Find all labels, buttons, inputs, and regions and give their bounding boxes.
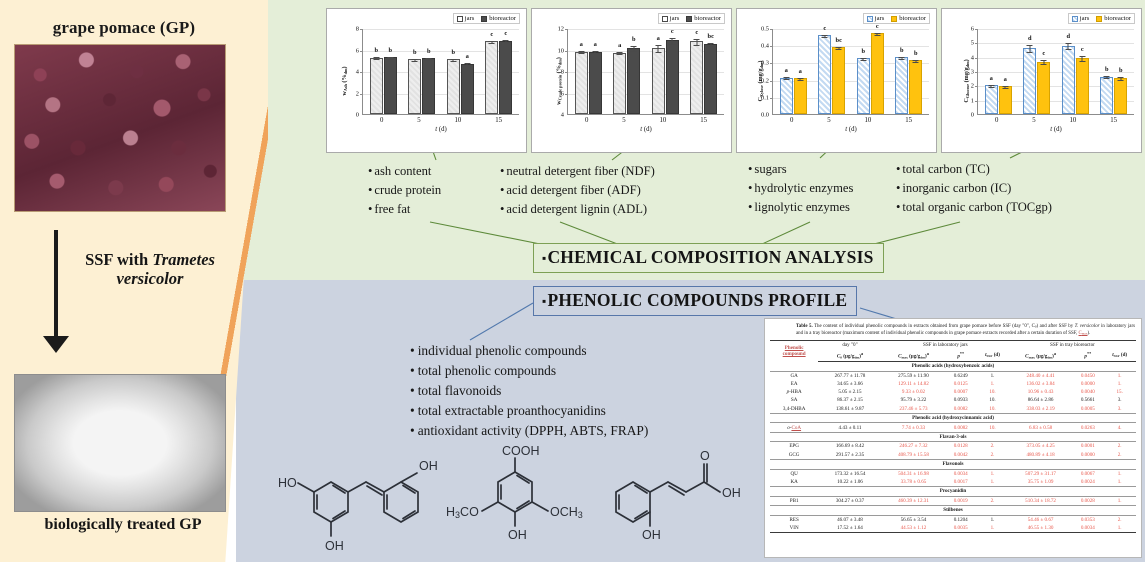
table-cell: 0.0034	[945, 469, 976, 478]
y-tick-label: 8	[356, 26, 359, 33]
chart-panel-1: jarsbioreactorwAsh (%dm)02468bbbbbacc051…	[326, 8, 527, 153]
grid-area: aaabaccbc	[567, 29, 724, 115]
table-cell: 35.75 ± 1.09	[1009, 478, 1072, 487]
table-cell: 1.	[976, 380, 1009, 388]
table-cell: 3.	[1103, 404, 1136, 413]
bar	[652, 48, 665, 114]
table-cell: 33.78 ± 0.65	[882, 478, 945, 487]
significance-letter: a	[799, 68, 802, 75]
bar	[485, 41, 498, 114]
table-cell: 0.0000	[1072, 380, 1103, 388]
bullet-item: ash content	[368, 162, 441, 181]
legend-label: bioreactor	[694, 15, 721, 22]
bullet-item: total flavonoids	[410, 381, 648, 401]
x-tick-label: 15	[905, 117, 912, 124]
significance-letter: d	[1066, 33, 1070, 40]
table-cell: 0.0007	[945, 388, 976, 396]
table-row: RES46.07 ± 3.4856.65 ± 3.540.12041.54.46…	[770, 515, 1136, 524]
table-cell: 338.03 ± 2.19	[1009, 404, 1072, 413]
error-bar	[786, 77, 787, 80]
y-tick-label: 4	[356, 69, 359, 76]
significance-letter: c	[695, 29, 698, 36]
error-bar	[991, 85, 992, 88]
y-tick	[975, 29, 978, 30]
significance-letter: a	[618, 42, 621, 49]
table-cell: 0.5661	[1072, 396, 1103, 404]
error-bar	[1043, 60, 1044, 65]
bullet-item: total extractable proanthocyanidins	[410, 401, 648, 421]
legend-swatch-icon	[867, 16, 873, 22]
significance-letter: a	[594, 41, 597, 48]
significance-letter: a	[990, 75, 993, 82]
ssf-process-block: SSF with Trametes versicolor	[10, 224, 232, 374]
table-cell: 1.	[1103, 469, 1136, 478]
table-cell: 507.29 ± 31.17	[1009, 469, 1072, 478]
table-row: VIN17.52 ± 1.6444.53 ± 1.120.00351.46.55…	[770, 524, 1136, 533]
x-axis-tick-labels: 051015	[363, 117, 519, 124]
y-tick	[770, 63, 773, 64]
error-bar	[1068, 43, 1069, 50]
y-tick-label: 0.2	[761, 77, 769, 84]
treated-gp-title: biologically treated GP	[8, 516, 238, 534]
table-cell: 10.	[976, 404, 1009, 413]
y-tick	[360, 29, 363, 30]
significance-letter: d	[1028, 35, 1032, 42]
headline-chemical-composition: ▪CHEMICAL COMPOSITION ANALYSIS	[533, 243, 884, 273]
significance-letter: a	[466, 53, 469, 60]
th-tssf-jars: tSSF (d)	[976, 350, 1009, 362]
table-cell: 480.89 ± 4.18	[1009, 451, 1072, 460]
table-cell: 304.27 ± 0.37	[818, 496, 881, 505]
table-cell: 1.	[1103, 371, 1136, 380]
grid-area: aadcdcbb	[977, 29, 1134, 115]
bar	[780, 78, 793, 114]
bar	[575, 52, 588, 114]
table-cell: 0.0263	[1072, 423, 1103, 432]
table-cell: 1.	[976, 469, 1009, 478]
table-group-row: Phenolic acids (hydroxybenzoic acids)	[770, 361, 1136, 371]
table-cell: 1.	[976, 515, 1009, 524]
error-bar	[1120, 77, 1121, 81]
table-cell: 10.96 ± 0.43	[1009, 388, 1072, 396]
structure-label-OCH3: OCH3	[550, 505, 583, 520]
bar-slot: a	[589, 29, 602, 114]
y-tick	[975, 101, 978, 102]
error-bar	[824, 35, 825, 38]
chart-legend: jarsbioreactor	[658, 13, 725, 24]
bar-slot: b	[909, 29, 922, 114]
table-cell-compound: KA	[770, 478, 818, 487]
table-caption: Table 5. The content of individual pheno…	[796, 324, 1135, 337]
grape-pomace-title: grape pomace (GP)	[14, 18, 234, 38]
significance-letter: bc	[836, 37, 842, 44]
bar-slot: b	[408, 29, 421, 114]
x-tick-label: 5	[827, 117, 830, 124]
error-bar	[428, 58, 429, 61]
significance-letter: bc	[708, 33, 714, 40]
significance-letter: c	[504, 30, 507, 37]
table-cell: 5.05 ± 2.15	[818, 388, 881, 396]
grape-pomace-photo	[14, 44, 226, 212]
bar-slot: c	[818, 29, 831, 114]
significance-letter: b	[427, 48, 431, 55]
th-tssf-bioreactor: tSSF (d)	[1103, 350, 1136, 362]
th-phenolic-compound: Phenoliccompound	[770, 341, 818, 362]
table-cell: 0.0450	[1072, 371, 1103, 380]
table-cell: 1.	[976, 371, 1009, 380]
y-tick-label: 4	[561, 112, 564, 119]
chart-legend: jarsbioreactor	[1068, 13, 1135, 24]
table-cell: 2.	[1103, 515, 1136, 524]
headline-bullet-icon: ▪	[542, 251, 546, 265]
bar	[499, 41, 512, 114]
y-tick	[975, 43, 978, 44]
table-group-row: Stilbenes	[770, 505, 1136, 515]
bullet-item: neutral detergent fiber (NDF)	[500, 162, 655, 181]
error-bar	[1005, 86, 1006, 89]
plot-area: CXylose (mg/gdm)0.00.10.20.30.40.5aacbcb…	[741, 25, 932, 137]
error-bar	[376, 57, 377, 60]
x-tick-label: 10	[455, 117, 462, 124]
bar	[871, 33, 884, 114]
table-cell: 0.0082	[945, 423, 976, 432]
table-group-label: Flavan-3-ols	[770, 432, 1136, 442]
bar-slot: b	[422, 29, 435, 114]
structure-label-HO: HO	[278, 476, 297, 490]
table-cell: 0.0000	[1072, 451, 1103, 460]
bar-container: aadcdcbb	[979, 29, 1133, 114]
bar-slot: b	[895, 29, 908, 114]
y-tick-label: 10	[558, 47, 564, 54]
legend-entry: bioreactor	[686, 15, 721, 22]
table-cell: 408.79 ± 15.58	[882, 451, 945, 460]
bar-slot: b	[1114, 29, 1127, 114]
bullet-list-sugars-enzymes: sugarshydrolytic enzymeslignolytic enzym…	[748, 160, 853, 217]
y-tick	[770, 29, 773, 30]
bar	[1037, 62, 1050, 114]
table-cell: 1.	[1103, 380, 1136, 388]
table-row: GA267.77 ± 11.78275.59 ± 11.900.62491.24…	[770, 371, 1136, 380]
ssf-process-label: SSF with Trametes versicolor	[70, 250, 230, 289]
table-cell: 237.46 ± 5.73	[882, 404, 945, 413]
bar	[589, 52, 602, 114]
error-bar	[581, 51, 582, 54]
bar	[370, 58, 383, 114]
y-tick	[565, 29, 568, 30]
bar-group: cc	[485, 29, 512, 114]
significance-letter: a	[657, 35, 660, 42]
error-bar	[672, 38, 673, 45]
legend-label: jars	[875, 15, 885, 22]
table-group-row: Procyanidin	[770, 486, 1136, 496]
significance-letter: c	[1042, 50, 1045, 57]
x-tick-label: 15	[700, 117, 707, 124]
bullet-item: free fat	[368, 200, 441, 219]
bar	[627, 48, 640, 114]
significance-letter: c	[490, 31, 493, 38]
y-tick-label: 5	[971, 40, 974, 47]
table-cell: 7.74 ± 0.33	[882, 423, 945, 432]
bar	[408, 59, 421, 114]
error-bar	[633, 46, 634, 52]
table-cell: 138.61 ± 9.87	[818, 404, 881, 413]
table-cell: 10.	[976, 423, 1009, 432]
y-tick	[360, 51, 363, 52]
table-cell: 275.59 ± 11.90	[882, 371, 945, 380]
legend-label: jars	[670, 15, 680, 22]
table-cell: 2.	[1103, 442, 1136, 451]
bar	[1023, 48, 1036, 114]
table-cell: 46.55 ± 1.30	[1009, 524, 1072, 533]
significance-letter: c	[876, 23, 879, 30]
error-bar	[838, 47, 839, 50]
x-axis-tick-labels: 051015	[773, 117, 929, 124]
bullet-item: sugars	[748, 160, 853, 179]
structure-label-H3CO: H3CO	[446, 505, 479, 520]
significance-letter: b	[1105, 66, 1109, 73]
structure-label-OH: OH	[508, 528, 527, 542]
y-tick-label: 0.5	[761, 26, 769, 33]
bar-slot: d	[1062, 29, 1075, 114]
table-cell: 0.0035	[945, 524, 976, 533]
bar-slot: b	[384, 29, 397, 114]
y-tick-label: 4	[971, 54, 974, 61]
table-row: QU173.32 ± 16.54504.31 ± 16.980.00341.50…	[770, 469, 1136, 478]
table-cell: 86.64 ± 2.86	[1009, 396, 1072, 404]
table-cell-compound: QU	[770, 469, 818, 478]
bar-slot: a	[652, 29, 665, 114]
table-cell: 2.	[976, 451, 1009, 460]
table-cell-compound: EPG	[770, 442, 818, 451]
table-cell: 0.0933	[945, 396, 976, 404]
legend-swatch-icon	[686, 16, 692, 22]
grid-area: aacbcbcbb	[772, 29, 929, 115]
y-tick-label: 2	[971, 83, 974, 90]
bar-group: dc	[1023, 29, 1050, 114]
process-arrow-head	[43, 336, 69, 353]
bullet-item: acid detergent fiber (ADF)	[500, 181, 655, 200]
plot-area: wAsh (%dm)02468bbbbbacc051015t (d)	[331, 25, 522, 137]
bar	[1062, 46, 1075, 114]
significance-letter: b	[1119, 67, 1123, 74]
table-cell: 1.	[1103, 478, 1136, 487]
bar-slot: b	[370, 29, 383, 114]
table-cell: 0.0001	[1072, 442, 1103, 451]
bullet-list-phenolic-assays: individual phenolic compoundstotal pheno…	[410, 341, 648, 442]
y-tick-label: 0	[356, 112, 359, 119]
bar-slot: c	[1076, 29, 1089, 114]
bar	[704, 44, 717, 114]
error-bar	[453, 59, 454, 62]
table-cell: 504.31 ± 16.98	[882, 469, 945, 478]
bar-slot: c	[666, 29, 679, 114]
legend-label: jars	[465, 15, 475, 22]
error-bar	[696, 39, 697, 45]
table-group-row: Flavonols	[770, 459, 1136, 469]
bar	[422, 58, 435, 114]
headline-bullet-icon: ▪	[542, 294, 546, 308]
y-tick-label: 6	[356, 47, 359, 54]
table-row: p-HBA5.05 ± 2.159.33 ± 0.020.000710.10.9…	[770, 388, 1136, 396]
chemical-structures: HO OH OH COOH H3CO OCH3 OH O OH OH	[276, 436, 746, 558]
x-axis-title: t (d)	[363, 126, 519, 133]
table-cell: 0.0028	[1072, 496, 1103, 505]
th-p-bioreactor: p**	[1072, 350, 1103, 362]
error-bar	[390, 57, 391, 60]
x-tick-label: 10	[660, 117, 667, 124]
table-cell: 173.32 ± 16.54	[818, 469, 881, 478]
y-tick-label: 3	[971, 69, 974, 76]
th-ssf-jars: SSF in laboratory jars	[882, 341, 1009, 350]
table-cell-compound: GA	[770, 371, 818, 380]
bar-group: cbc	[818, 29, 845, 114]
table-cell: 0.0082	[945, 404, 976, 413]
bar-group: bb	[370, 29, 397, 114]
table-cell: 0.0017	[945, 478, 976, 487]
bullet-item: individual phenolic compounds	[410, 341, 648, 361]
structure-label-O: O	[700, 449, 710, 463]
bar	[666, 40, 679, 114]
significance-letter: a	[785, 67, 788, 74]
table-cell: 10.22 ± 1.06	[818, 478, 881, 487]
bar	[985, 85, 998, 114]
headline-phenolic-text: PHENOLIC COMPOUNDS PROFILE	[547, 290, 847, 310]
bullet-item: acid detergent lignin (ADL)	[500, 200, 655, 219]
bar	[794, 78, 807, 114]
ssf-label-genus: Trametes	[152, 250, 215, 269]
table-cell: 0.0040	[1072, 388, 1103, 396]
bar-slot: a	[575, 29, 588, 114]
significance-letter: b	[861, 48, 865, 55]
y-tick-label: 1	[971, 97, 974, 104]
bullet-item: inorganic carbon (IC)	[896, 179, 1052, 198]
table-cell: 10.	[976, 396, 1009, 404]
table-cell: 1.	[976, 478, 1009, 487]
bar-slot: a	[985, 29, 998, 114]
table-cell: 510.34 ± 18.72	[1009, 496, 1072, 505]
table-cell: 44.53 ± 1.12	[882, 524, 945, 533]
table-cell: 0.0024	[1072, 478, 1103, 487]
bar-group: ab	[613, 29, 640, 114]
error-bar	[658, 45, 659, 54]
table-group-label: Phenolic acid (hydroxycinnamic acid)	[770, 413, 1136, 423]
x-axis-title: t (d)	[568, 126, 724, 133]
chart-panel-4: jarsbioreactorCGlucose (mg/gdm)0123456aa…	[941, 8, 1142, 153]
bullet-item: total phenolic compounds	[410, 361, 648, 381]
y-tick-label: 0	[971, 112, 974, 119]
legend-swatch-icon	[891, 16, 897, 22]
bar-group: bc	[857, 29, 884, 114]
y-tick-label: 6	[561, 90, 564, 97]
error-bar	[414, 59, 415, 62]
table-row: PB1304.27 ± 0.37460.39 ± 12.310.00192.51…	[770, 496, 1136, 505]
table-cell: 0.1204	[945, 515, 976, 524]
th-ssf-bioreactor: SSF in tray bioreactor	[1009, 341, 1136, 350]
table-cell-compound: RES	[770, 515, 818, 524]
bar	[690, 41, 703, 114]
bar-group: ac	[652, 29, 679, 114]
table-row: GCG291.57 ± 2.35408.79 ± 15.580.00422.48…	[770, 451, 1136, 460]
treated-grape-pomace-photo	[14, 374, 226, 512]
bar-slot: b	[1100, 29, 1113, 114]
bar-group: bb	[1100, 29, 1127, 114]
table-cell: 166.69 ± 8.42	[818, 442, 881, 451]
table-cell: 0.0034	[1072, 524, 1103, 533]
bar	[613, 53, 626, 114]
bar-slot: a	[780, 29, 793, 114]
table-cell: 1.	[1103, 524, 1136, 533]
x-tick-label: 10	[865, 117, 872, 124]
bar	[909, 60, 922, 114]
bullet-list-proximate: ash contentcrude proteinfree fat	[368, 162, 441, 219]
table-cell: 86.37 ± 2.15	[818, 396, 881, 404]
bar	[999, 86, 1012, 114]
bar-slot: a	[794, 29, 807, 114]
error-bar	[491, 41, 492, 45]
bullet-item: hydrolytic enzymes	[748, 179, 853, 198]
table-cell: 0.0128	[945, 442, 976, 451]
y-tick	[770, 46, 773, 47]
table-cell: 4.	[1103, 423, 1136, 432]
process-arrow-shaft	[54, 230, 58, 342]
table-row: o-CoA4.43 ± 0.117.74 ± 0.330.008210.6.83…	[770, 423, 1136, 432]
table-cell: 460.39 ± 12.31	[882, 496, 945, 505]
legend-entry: jars	[867, 15, 885, 22]
legend-entry: bioreactor	[1096, 15, 1131, 22]
table-group-row: Flavan-3-ols	[770, 432, 1136, 442]
significance-letter: c	[671, 28, 674, 35]
significance-letter: b	[914, 50, 918, 57]
table-cell: 15.	[1103, 388, 1136, 396]
y-tick-label: 0.4	[761, 43, 769, 50]
bar-group: bb	[895, 29, 922, 114]
y-axis-tick-labels: 4681012	[549, 29, 566, 115]
table-cell: 373.05 ± 4.25	[1009, 442, 1072, 451]
bullet-item: lignolytic enzymes	[748, 198, 853, 217]
legend-label: jars	[1080, 15, 1090, 22]
table-cell: 0.0353	[1072, 515, 1103, 524]
y-axis-tick-labels: 0123456	[959, 29, 976, 115]
legend-label: bioreactor	[1104, 15, 1131, 22]
table-group-label: Flavonols	[770, 459, 1136, 469]
legend-swatch-icon	[1072, 16, 1078, 22]
table-cell: 136.02 ± 3.84	[1009, 380, 1072, 388]
th-p-jars: p**	[945, 350, 976, 362]
bar-container: aaabaccbc	[569, 29, 723, 114]
y-tick	[565, 94, 568, 95]
error-bar	[505, 40, 506, 43]
legend-swatch-icon	[1096, 16, 1102, 22]
x-axis-title: t (d)	[773, 126, 929, 133]
bar	[1076, 58, 1089, 114]
y-tick	[565, 51, 568, 52]
y-tick-label: 0.1	[761, 94, 769, 101]
bar-container: bbbbbacc	[364, 29, 518, 114]
legend-entry: jars	[662, 15, 680, 22]
bar-group: aa	[780, 29, 807, 114]
table-group-row: Phenolic acid (hydroxycinnamic acid)	[770, 413, 1136, 423]
error-bar	[877, 33, 878, 36]
structure-label-OH: OH	[722, 486, 741, 500]
y-tick	[770, 98, 773, 99]
bullet-list-fiber: neutral detergent fiber (NDF)acid deterg…	[500, 162, 655, 219]
chart-row: jarsbioreactorwAsh (%dm)02468bbbbbacc051…	[326, 8, 1142, 153]
table-cell: 6.83 ± 0.58	[1009, 423, 1072, 432]
bar-slot: bc	[832, 29, 845, 114]
bar-group: cbc	[690, 29, 717, 114]
x-tick-label: 5	[417, 117, 420, 124]
phenolic-compounds-table: Phenoliccompoundday "0"SSF in laboratory…	[770, 340, 1136, 533]
